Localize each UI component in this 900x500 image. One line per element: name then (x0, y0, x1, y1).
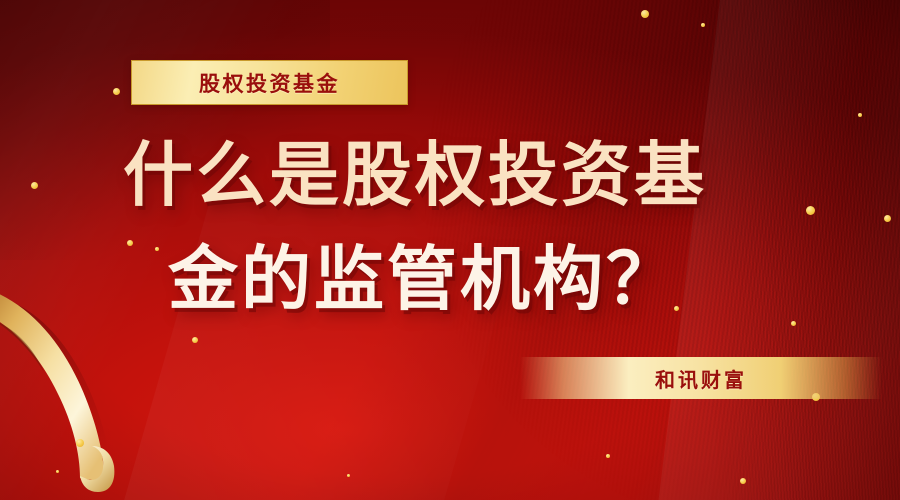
headline-line-2: 金的监管机构？ (168, 244, 900, 314)
confetti-particle (56, 470, 59, 473)
confetti-particle (347, 474, 350, 477)
headline: 什么是股权投资基 金的监管机构？ (0, 140, 900, 314)
headline-line-1: 什么是股权投资基 (123, 140, 900, 210)
confetti-particle (791, 321, 796, 326)
confetti-particle (76, 439, 84, 447)
source-label: 和讯财富 (655, 364, 747, 393)
category-badge: 股权投资基金 (131, 60, 408, 105)
source-bar: 和讯财富 (520, 357, 882, 399)
promo-poster: 股权投资基金 什么是股权投资基 金的监管机构？ 和讯财富 (0, 0, 900, 500)
confetti-particle (701, 23, 705, 27)
confetti-particle (641, 10, 649, 18)
confetti-particle (192, 337, 198, 343)
confetti-particle (858, 113, 862, 117)
category-badge-label: 股权投资基金 (199, 68, 340, 98)
confetti-particle (740, 478, 746, 484)
confetti-particle (113, 88, 120, 95)
confetti-particle (606, 454, 610, 458)
